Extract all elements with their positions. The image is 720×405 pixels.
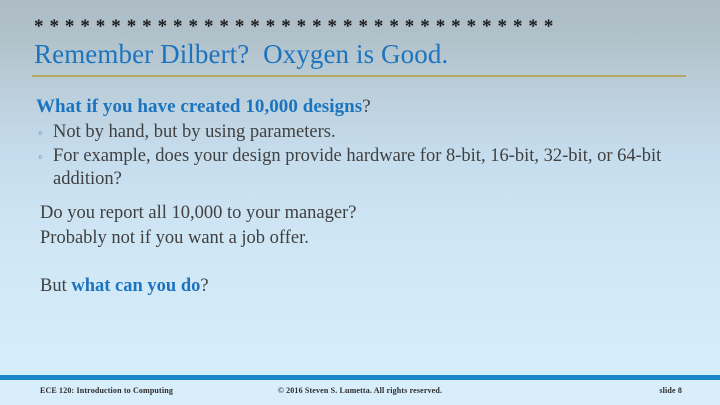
slide-body: What if you have created 10,000 designs?… [34, 94, 674, 299]
footer-copyright: © 2016 Steven S. Lumetta. All rights res… [0, 386, 720, 395]
title-underline-rule [32, 75, 686, 77]
paragraph-report-question: Do you report all 10,000 to your manager… [40, 201, 674, 226]
closing-prefix: But [40, 276, 71, 296]
list-item-text: For example, does your design provide ha… [53, 145, 674, 191]
slide-footer: ECE 120: Introduction to Computing © 201… [0, 380, 720, 405]
body-spacer [34, 251, 674, 274]
paragraph-job-offer: Probably not if you want a job offer. [40, 226, 674, 251]
list-item: ◦ Not by hand, but by using parameters. [34, 121, 674, 144]
lead-question: What if you have created 10,000 designs? [36, 94, 674, 119]
hollow-bullet-icon: ◦ [38, 145, 43, 168]
list-item: ◦ For example, does your design provide … [34, 145, 674, 191]
lead-question-highlight: What if you have created 10,000 designs [36, 96, 362, 117]
slide-canvas: * * * * * * * * * * * * * * * * * * * * … [0, 0, 720, 405]
closing-question: But what can you do? [40, 274, 674, 299]
star-divider-decoration: * * * * * * * * * * * * * * * * * * * * … [34, 17, 694, 37]
list-item-text: Not by hand, but by using parameters. [53, 121, 674, 144]
lead-question-tail: ? [362, 96, 370, 117]
hollow-bullet-icon: ◦ [38, 121, 43, 144]
bullet-list: ◦ Not by hand, but by using parameters. … [34, 121, 674, 191]
closing-highlight: what can you do [71, 276, 200, 296]
page-title: Remember Dilbert? Oxygen is Good. [34, 38, 448, 71]
footer-slide-number: slide 8 [659, 386, 682, 395]
closing-tail: ? [200, 276, 208, 296]
